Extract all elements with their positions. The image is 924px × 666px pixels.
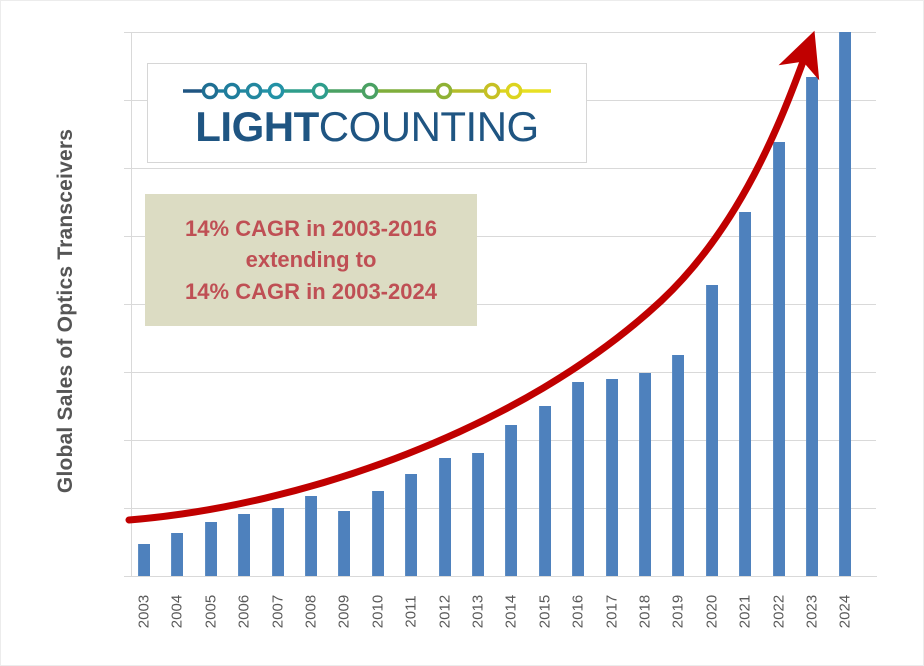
y-axis-title: Global Sales of Optics Transceivers [43,31,89,591]
x-axis-label-text: 2015 [536,595,553,629]
y-axis-tick [124,236,131,237]
gridline [131,508,876,509]
bar-2012 [439,458,451,576]
x-axis-label-text: 2011 [403,595,420,629]
x-axis-label-2011: 2011 [394,579,428,649]
y-axis-tick [124,304,131,305]
bar-2018 [639,373,651,576]
x-axis-label-2017: 2017 [595,579,629,649]
y-axis-tick [124,440,131,441]
x-axis-label-text: 2006 [236,595,253,629]
y-axis-tick [124,372,131,373]
y-axis-tick [124,100,131,101]
x-axis-label-2009: 2009 [327,579,361,649]
bar-2004 [171,533,183,576]
x-axis-label-text: 2017 [603,595,620,629]
cagr-callout-line-1: 14% CAGR in 2003-2016 [185,213,437,244]
x-axis-label-2007: 2007 [261,579,295,649]
x-axis-label-2020: 2020 [695,579,729,649]
x-axis-label-2013: 2013 [461,579,495,649]
bar-2024 [839,32,851,576]
bar-2022 [773,142,785,576]
bar-2003 [138,544,150,576]
x-axis-label-2018: 2018 [628,579,662,649]
x-axis-label-2006: 2006 [227,579,261,649]
cagr-callout-line-2: extending to [246,244,377,275]
x-axis-label-2019: 2019 [661,579,695,649]
y-axis-tick [124,168,131,169]
y-axis-tick [124,576,131,577]
gridline [131,440,876,441]
x-axis-label-text: 2005 [202,595,219,629]
x-axis-label-2005: 2005 [194,579,228,649]
x-axis-label-text: 2004 [169,595,186,629]
x-axis-label-text: 2023 [804,595,821,629]
x-axis-label-text: 2021 [737,595,754,629]
x-axis-label-2010: 2010 [361,579,395,649]
x-axis-label-2004: 2004 [160,579,194,649]
bar-2013 [472,453,484,576]
x-axis-label-text: 2010 [369,595,386,629]
x-axis-label-2003: 2003 [127,579,161,649]
x-axis-label-2023: 2023 [795,579,829,649]
bar-2014 [505,425,517,576]
x-axis-label-2022: 2022 [762,579,796,649]
gridline [131,32,876,33]
bar-2008 [305,496,317,576]
logo-wordmark: LIGHTCOUNTING [195,106,538,148]
x-axis-label-text: 2022 [770,595,787,629]
bar-2017 [606,379,618,576]
x-axis-label-text: 2018 [637,595,654,629]
gridline [131,372,876,373]
bar-2007 [272,508,284,576]
x-axis-label-text: 2009 [336,595,353,629]
gridline [131,168,876,169]
x-axis-label-text: 2013 [470,595,487,629]
bar-2010 [372,491,384,576]
x-axis-label-2008: 2008 [294,579,328,649]
x-axis-label-2021: 2021 [728,579,762,649]
x-axis-label-2016: 2016 [561,579,595,649]
x-axis-label-text: 2008 [303,595,320,629]
bar-2020 [706,285,718,576]
x-axis-label-text: 2020 [703,595,720,629]
cagr-callout-line-3: 14% CAGR in 2003-2024 [185,276,437,307]
bar-2016 [572,382,584,576]
bar-2005 [205,522,217,576]
x-axis-label-2024: 2024 [828,579,862,649]
bar-2023 [806,77,818,576]
x-axis-label-text: 2012 [436,595,453,629]
bar-2006 [238,514,250,576]
x-axis-line [131,576,877,577]
y-axis-tick [124,32,131,33]
logo-word-counting: COUNTING [319,103,539,150]
bar-2011 [405,474,417,576]
lightcounting-logo: LIGHTCOUNTING [147,63,587,163]
cagr-callout: 14% CAGR in 2003-2016 extending to 14% C… [145,194,477,326]
x-axis-label-text: 2024 [837,595,854,629]
bar-2009 [338,511,350,576]
x-axis-label-text: 2019 [670,595,687,629]
x-axis-label-text: 2014 [503,595,520,629]
bar-2015 [539,406,551,576]
logo-chain-icon [181,78,553,104]
y-axis-title-text: Global Sales of Optics Transceivers [54,129,78,493]
x-axis-label-2015: 2015 [528,579,562,649]
x-axis-label-2012: 2012 [428,579,462,649]
x-axis-label-text: 2007 [269,595,286,629]
chart-figure: Global Sales of Optics Transceivers 2003… [0,0,924,666]
x-axis-labels: 2003200420052006200720082009201020112012… [131,579,876,659]
x-axis-label-text: 2003 [136,595,153,629]
bar-2019 [672,355,684,576]
x-axis-label-text: 2016 [570,595,587,629]
logo-word-light: LIGHT [195,103,318,150]
x-axis-label-2014: 2014 [494,579,528,649]
y-axis-tick [124,508,131,509]
bar-2021 [739,212,751,576]
